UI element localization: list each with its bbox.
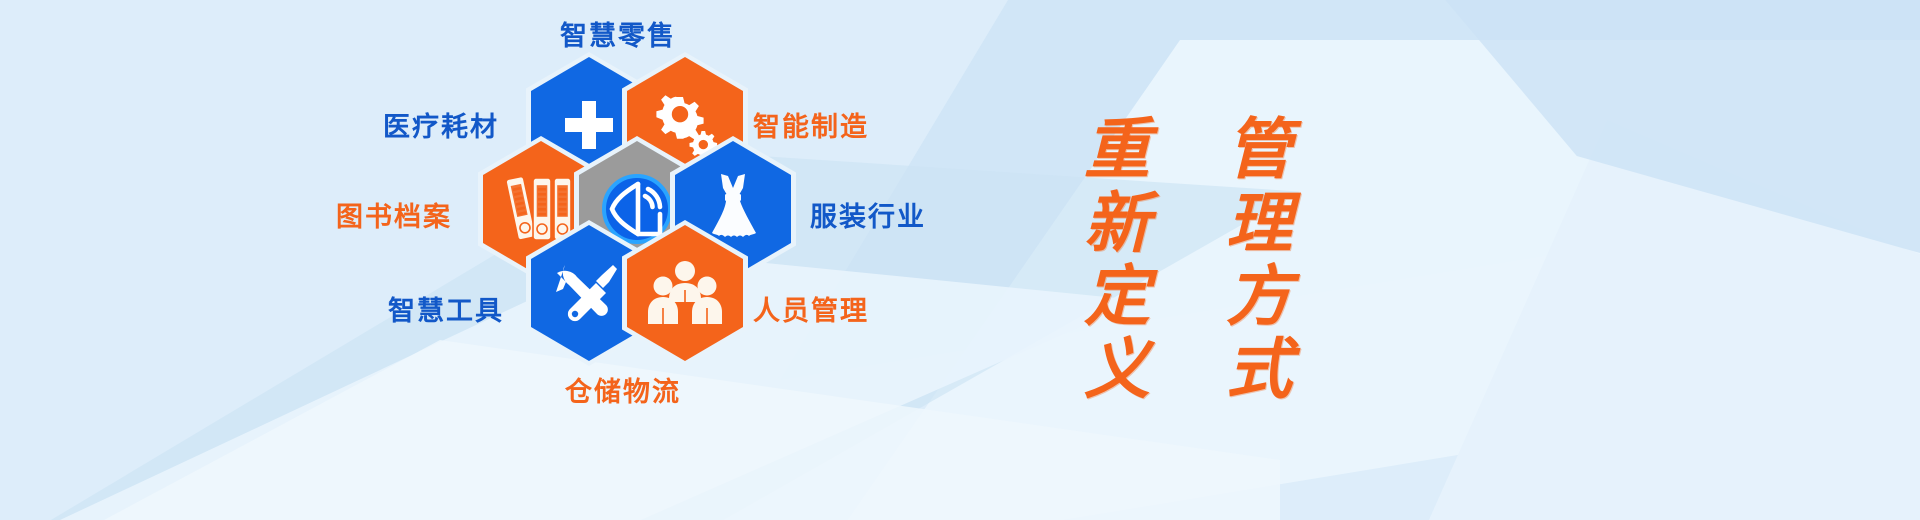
slogan-char: 义: [1084, 336, 1150, 403]
slogan-char: 新: [1084, 190, 1150, 257]
slogan-column-right: 管 理 方 式: [1204, 0, 1314, 520]
slogan-char: 重: [1084, 116, 1150, 183]
slogan-char: 式: [1226, 336, 1292, 403]
bg-band-5: [1420, 120, 1920, 520]
hex-label-logistics[interactable]: 仓储物流: [565, 370, 681, 409]
hex-label-manufacture[interactable]: 智能制造: [753, 105, 869, 144]
hex-label-tools[interactable]: 智慧工具: [388, 289, 504, 328]
hex-label-apparel[interactable]: 服装行业: [810, 195, 926, 234]
slogan-char: 方: [1226, 263, 1292, 330]
hex-label-retail[interactable]: 智慧零售: [560, 14, 676, 53]
background-decoration: [0, 0, 1920, 520]
medical-cross-icon: [559, 95, 619, 155]
slogan-block: 重 新 定 义 管 理 方 式: [1040, 0, 1400, 520]
slogan-char: 管: [1226, 116, 1292, 183]
people-group-icon: [647, 260, 723, 326]
slogan-char: 定: [1084, 263, 1150, 330]
slogan-column-left: 重 新 定 义: [1062, 0, 1172, 520]
hex-label-archive[interactable]: 图书档案: [336, 195, 452, 234]
bg-band-6: [1420, 0, 1920, 270]
wrench-screwdriver-icon: [553, 257, 625, 329]
gears-icon: [652, 94, 718, 156]
banner-root: 智慧零售 医疗耗材 智能制造 图书档案 服装行业 智慧工具 人员管理 仓储物流 …: [0, 0, 1920, 520]
hex-label-medical[interactable]: 医疗耗材: [383, 105, 499, 144]
hex-label-people[interactable]: 人员管理: [753, 289, 869, 328]
slogan-char: 理: [1226, 190, 1292, 257]
hex-fill: [627, 225, 743, 361]
